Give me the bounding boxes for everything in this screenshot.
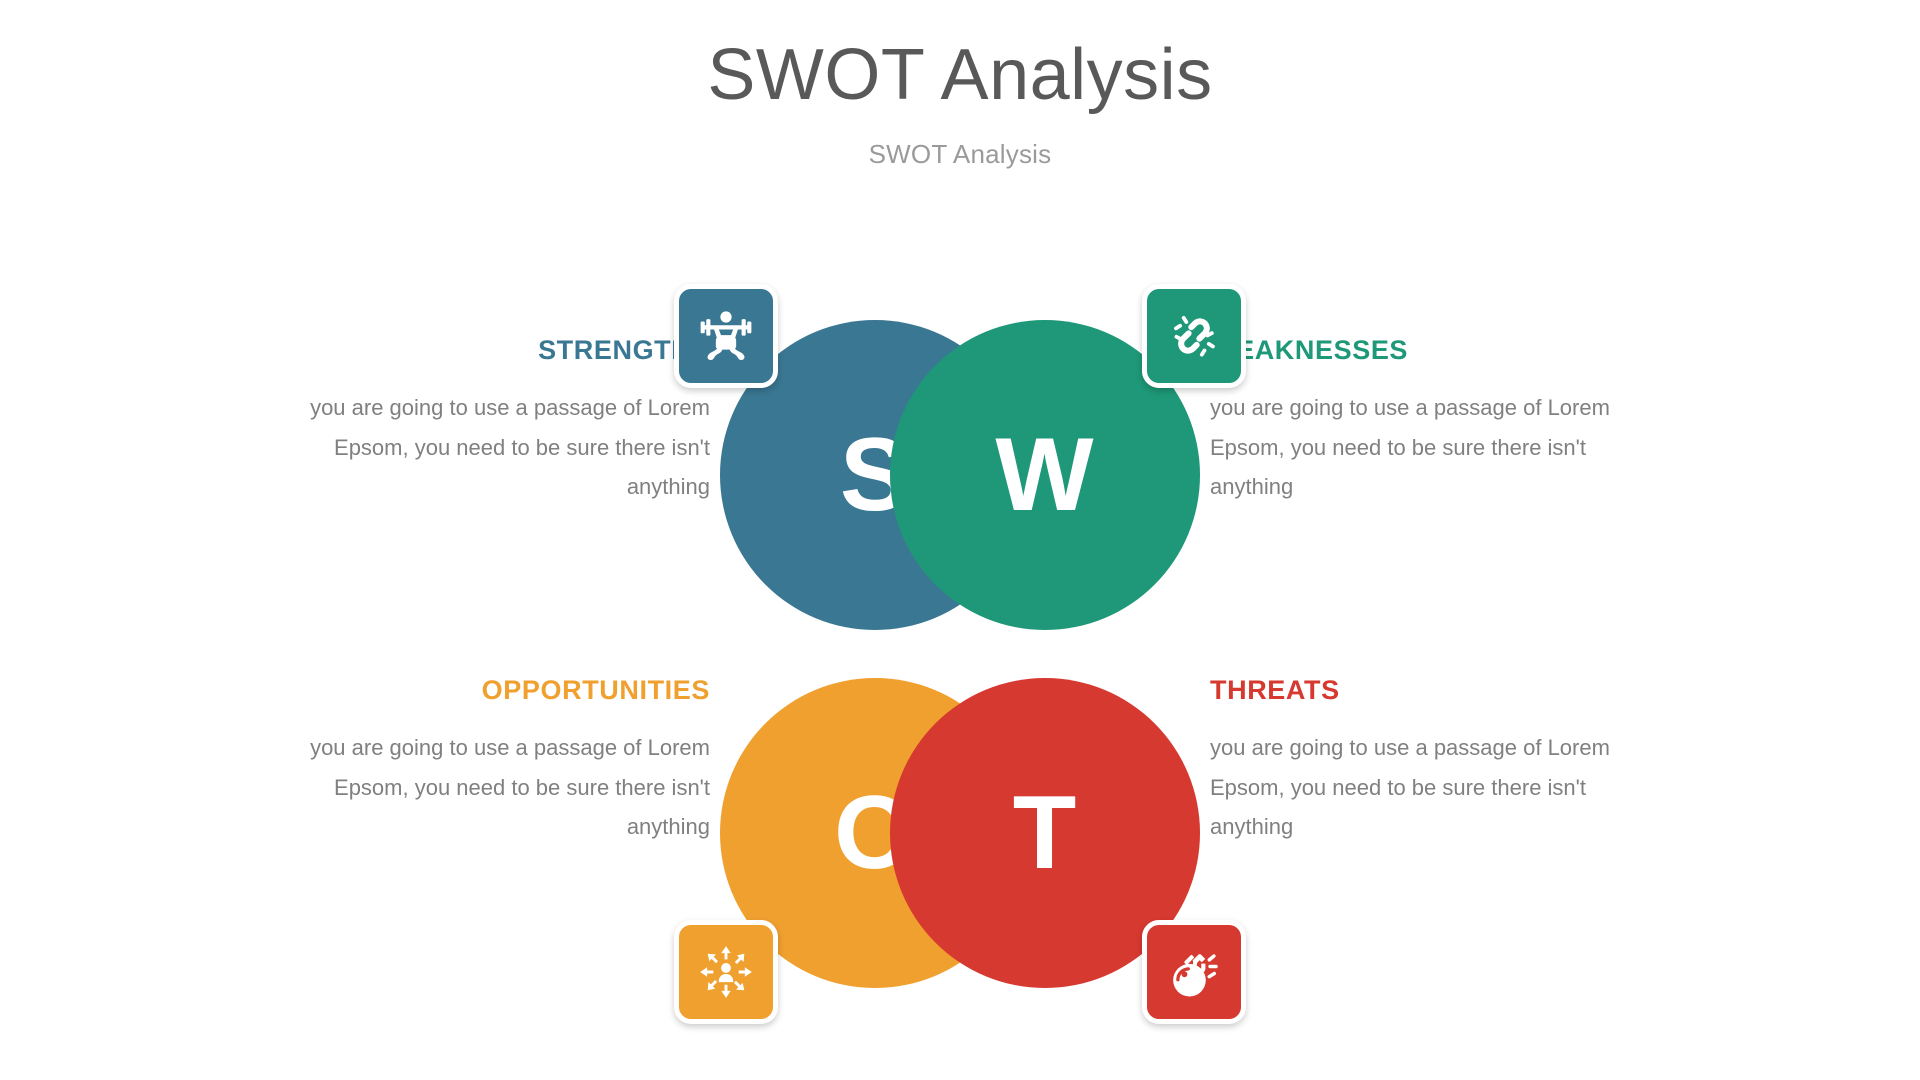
quadrant-weaknesses[interactable]: WEAKNESSES you are going to use a passag… bbox=[960, 320, 1640, 660]
threats-text-block: THREATS you are going to use a passage o… bbox=[1210, 674, 1640, 846]
threats-letter: T bbox=[1013, 781, 1078, 885]
weaknesses-title: WEAKNESSES bbox=[1210, 334, 1640, 366]
weaknesses-description: you are going to use a passage of Lorem … bbox=[1210, 388, 1640, 505]
weaknesses-letter: W bbox=[995, 423, 1094, 527]
opportunities-text-block: OPPORTUNITIES you are going to use a pas… bbox=[280, 674, 710, 846]
strengths-icon-badge[interactable] bbox=[674, 284, 778, 388]
opportunities-description: you are going to use a passage of Lorem … bbox=[280, 728, 710, 845]
quadrant-threats[interactable]: THREATS you are going to use a passage o… bbox=[960, 660, 1640, 1000]
quadrant-strengths[interactable]: STRENGTHS you are going to use a passage… bbox=[280, 320, 960, 660]
swot-slide: SWOT Analysis SWOT Analysis STRENGTHS yo… bbox=[0, 0, 1920, 1080]
strengths-description: you are going to use a passage of Lorem … bbox=[280, 388, 710, 505]
threats-icon-badge[interactable] bbox=[1142, 920, 1246, 1024]
threats-title: THREATS bbox=[1210, 674, 1640, 706]
weaknesses-text-block: WEAKNESSES you are going to use a passag… bbox=[1210, 334, 1640, 506]
opportunities-icon-badge[interactable] bbox=[674, 920, 778, 1024]
broken-chain-icon bbox=[1165, 307, 1223, 365]
bomb-icon bbox=[1165, 943, 1223, 1001]
page-title: SWOT Analysis bbox=[0, 0, 1920, 115]
weaknesses-circle-wrap: W bbox=[890, 320, 1200, 630]
weaknesses-icon-badge[interactable] bbox=[1142, 284, 1246, 388]
weightlifter-icon bbox=[697, 307, 755, 365]
strengths-text-block: STRENGTHS you are going to use a passage… bbox=[280, 334, 710, 506]
quadrant-opportunities[interactable]: OPPORTUNITIES you are going to use a pas… bbox=[280, 660, 960, 1000]
slide-header: SWOT Analysis SWOT Analysis bbox=[0, 0, 1920, 170]
page-subtitle: SWOT Analysis bbox=[0, 115, 1920, 170]
opportunities-title: OPPORTUNITIES bbox=[280, 674, 710, 706]
strengths-title: STRENGTHS bbox=[280, 334, 710, 366]
threats-circle-wrap: T bbox=[890, 678, 1200, 988]
person-expand-arrows-icon bbox=[697, 943, 755, 1001]
threats-description: you are going to use a passage of Lorem … bbox=[1210, 728, 1640, 845]
swot-matrix: STRENGTHS you are going to use a passage… bbox=[280, 320, 1640, 1000]
